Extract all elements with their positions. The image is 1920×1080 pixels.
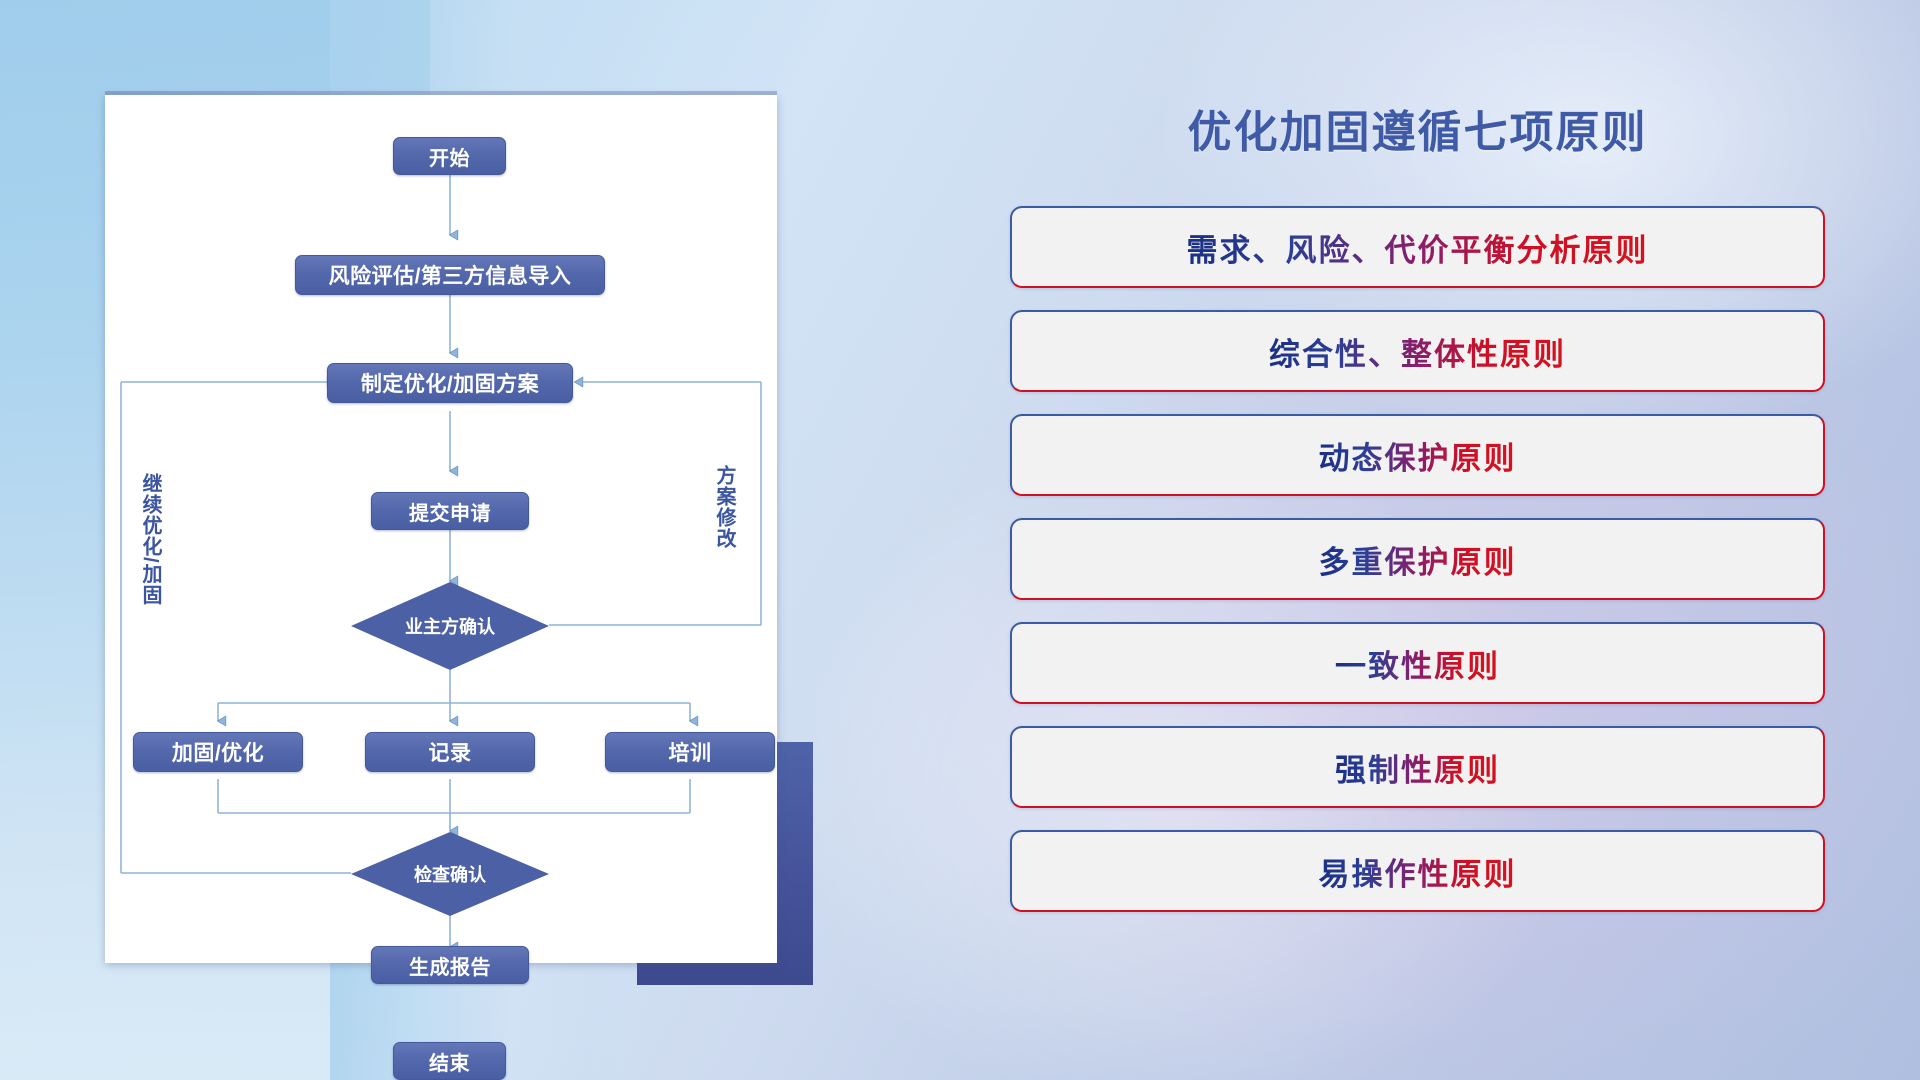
panel-title: 优化加固遵循七项原则 [1010,96,1825,160]
flow-node-reinforce[interactable]: 加固/优化 [133,732,303,772]
flow-node-reinforce-label: 加固/优化 [172,737,264,767]
flow-edge-label-right: 方案修改 [713,465,734,549]
principle-card-label: 易操作性原则 [1319,849,1517,894]
slide-root: 开始 风险评估/第三方信息导入 制定优化/加固方案 提交申请 业主方确认 加固/… [0,0,1920,1080]
principle-card-label: 一致性原则 [1335,641,1500,686]
principle-card-label: 综合性、整体性原则 [1269,329,1566,374]
principle-card-label: 需求、风险、代价平衡分析原则 [1187,225,1649,270]
principle-card[interactable]: 需求、风险、代价平衡分析原则 [1010,206,1825,288]
principle-card[interactable]: 多重保护原则 [1010,518,1825,600]
principle-card-label: 动态保护原则 [1319,433,1517,478]
flow-decision-inspection-label: 检查确认 [414,861,486,887]
flowchart: 开始 风险评估/第三方信息导入 制定优化/加固方案 提交申请 业主方确认 加固/… [105,95,777,963]
flow-node-training-label: 培训 [669,737,712,767]
principle-card[interactable]: 一致性原则 [1010,622,1825,704]
flow-node-report-label: 生成报告 [409,951,491,980]
flow-node-start[interactable]: 开始 [393,137,506,175]
flow-node-submit-label: 提交申请 [409,497,491,526]
flow-node-submit[interactable]: 提交申请 [371,492,529,530]
principle-card[interactable]: 易操作性原则 [1010,830,1825,912]
flow-node-training[interactable]: 培训 [605,732,775,772]
flow-decision-inspection[interactable]: 检查确认 [351,832,549,916]
flow-node-end-label: 结束 [429,1047,470,1076]
flowchart-card: 开始 风险评估/第三方信息导入 制定优化/加固方案 提交申请 业主方确认 加固/… [105,95,777,963]
flow-node-record[interactable]: 记录 [365,732,535,772]
flow-node-report[interactable]: 生成报告 [371,946,529,984]
flow-node-plan-label: 制定优化/加固方案 [361,368,539,398]
principle-card-label: 强制性原则 [1335,745,1500,790]
flow-decision-owner-confirm[interactable]: 业主方确认 [351,582,549,670]
principle-card[interactable]: 强制性原则 [1010,726,1825,808]
flow-node-end[interactable]: 结束 [393,1042,506,1080]
flow-node-risk-assessment-label: 风险评估/第三方信息导入 [329,260,572,290]
flow-decision-owner-confirm-label: 业主方确认 [405,613,495,639]
principles-panel: 优化加固遵循七项原则 需求、风险、代价平衡分析原则 综合性、整体性原则 动态保护… [1010,96,1825,912]
principle-card[interactable]: 动态保护原则 [1010,414,1825,496]
flow-node-plan[interactable]: 制定优化/加固方案 [327,363,573,403]
flow-edge-label-left: 继续优化/加固 [139,473,160,606]
flow-node-risk-assessment[interactable]: 风险评估/第三方信息导入 [295,255,605,295]
principle-card[interactable]: 综合性、整体性原则 [1010,310,1825,392]
flow-node-record-label: 记录 [429,737,472,767]
principles-list: 需求、风险、代价平衡分析原则 综合性、整体性原则 动态保护原则 多重保护原则 一… [1010,206,1825,912]
flow-node-start-label: 开始 [429,142,470,171]
principle-card-label: 多重保护原则 [1319,537,1517,582]
